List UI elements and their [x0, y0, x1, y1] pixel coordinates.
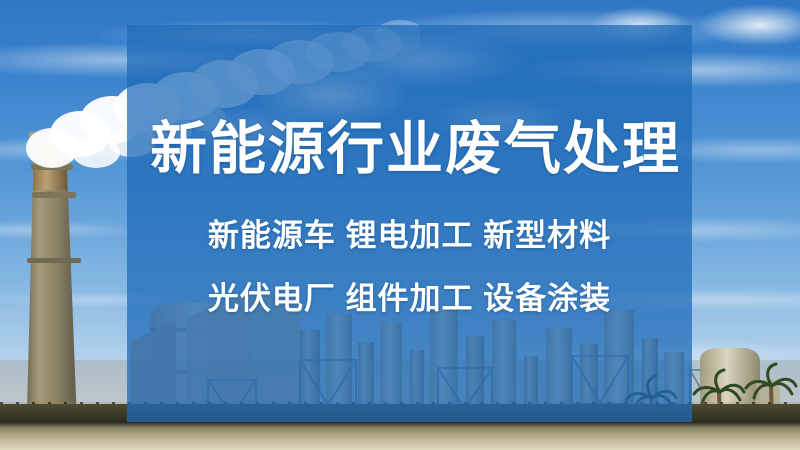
banner-text-block: 新能源行业废气处理 新能源车 锂电加工 新型材料 光伏电厂 组件加工 设备涂装	[127, 25, 692, 422]
banner-subline-2: 光伏电厂 组件加工 设备涂装	[127, 273, 692, 318]
banner-image: 新能源行业废气处理 新能源车 锂电加工 新型材料 光伏电厂 组件加工 设备涂装	[0, 0, 800, 450]
banner-subline-1: 新能源车 锂电加工 新型材料	[127, 210, 692, 255]
banner-headline: 新能源行业废气处理	[127, 120, 692, 180]
